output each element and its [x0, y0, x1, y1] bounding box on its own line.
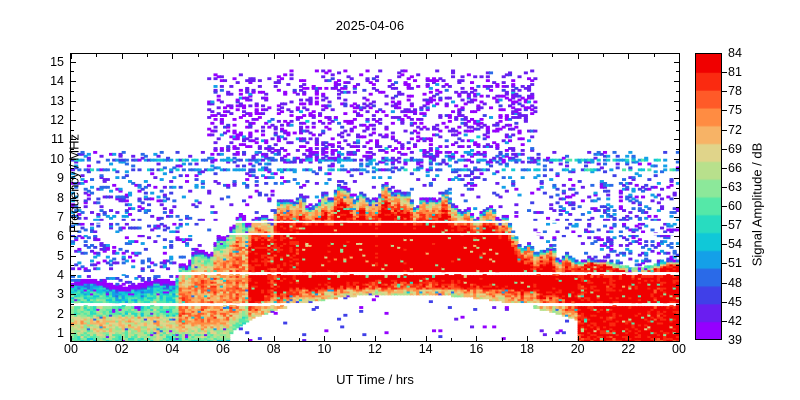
- y-tick-label: 3: [18, 288, 64, 301]
- x-tick-minor: [654, 54, 655, 57]
- x-tick-label: 22: [603, 343, 653, 356]
- colorbar-tick-mark: [722, 168, 727, 169]
- y-tick-mark: [71, 139, 76, 140]
- y-tick-mark: [71, 314, 76, 315]
- y-tick-mark: [71, 333, 76, 334]
- y-tick-mark: [674, 275, 679, 276]
- y-tick-mark: [71, 101, 76, 102]
- colorbar-tick-mark: [722, 263, 727, 264]
- y-tick-minor: [71, 110, 74, 111]
- y-tick-label: 13: [18, 94, 64, 107]
- colorbar-tick-mark: [722, 187, 727, 188]
- x-tick-minor: [147, 54, 148, 57]
- colorbar-tick-mark: [722, 283, 727, 284]
- y-tick-label: 9: [18, 172, 64, 185]
- x-tick-mark: [122, 54, 123, 59]
- x-tick-label: 06: [198, 343, 248, 356]
- y-tick-minor: [676, 110, 679, 111]
- x-tick-mark: [71, 336, 72, 341]
- y-tick-label: 15: [18, 56, 64, 69]
- y-tick-mark: [674, 62, 679, 63]
- x-tick-label: 10: [299, 343, 349, 356]
- x-tick-mark: [578, 54, 579, 59]
- y-tick-minor: [676, 324, 679, 325]
- x-tick-label: 08: [249, 343, 299, 356]
- y-tick-label: 6: [18, 230, 64, 243]
- x-tick-minor: [400, 54, 401, 57]
- y-tick-mark: [71, 62, 76, 63]
- x-tick-label: 14: [401, 343, 451, 356]
- x-tick-minor: [248, 338, 249, 341]
- x-tick-label: 04: [147, 343, 197, 356]
- y-tick-minor: [71, 149, 74, 150]
- x-tick-mark: [375, 336, 376, 341]
- y-tick-label: 1: [18, 327, 64, 340]
- x-tick-mark: [172, 54, 173, 59]
- colorbar-tick-mark: [722, 225, 727, 226]
- y-tick-label: 11: [18, 133, 64, 146]
- x-tick-minor: [451, 54, 452, 57]
- x-tick-mark: [426, 336, 427, 341]
- y-tick-minor: [676, 188, 679, 189]
- x-tick-label: 18: [502, 343, 552, 356]
- colorbar-canvas: [695, 53, 722, 340]
- y-tick-minor: [676, 130, 679, 131]
- x-tick-label: 00: [654, 343, 704, 356]
- y-tick-mark: [674, 333, 679, 334]
- y-tick-minor: [676, 149, 679, 150]
- x-tick-mark: [527, 336, 528, 341]
- y-tick-label: 2: [18, 308, 64, 321]
- spectrogram-plot-area[interactable]: Frequency / MHz UT Time / hrs 1234567891…: [70, 53, 680, 342]
- colorbar-tick-mark: [722, 130, 727, 131]
- x-axis-label: UT Time / hrs: [71, 372, 679, 387]
- y-tick-mark: [674, 198, 679, 199]
- x-tick-mark: [172, 336, 173, 341]
- y-tick-minor: [676, 168, 679, 169]
- x-tick-mark: [324, 336, 325, 341]
- y-tick-mark: [674, 178, 679, 179]
- x-tick-label: 12: [350, 343, 400, 356]
- colorbar-tick-mark: [722, 149, 727, 150]
- y-tick-mark: [674, 294, 679, 295]
- y-tick-label: 14: [18, 75, 64, 88]
- x-tick-minor: [96, 54, 97, 57]
- ionogram-figure: 2025-04-06 Frequency / MHz UT Time / hrs…: [0, 0, 800, 400]
- y-tick-label: 12: [18, 114, 64, 127]
- x-tick-minor: [299, 338, 300, 341]
- x-tick-mark: [679, 336, 680, 341]
- page-title: 2025-04-06: [0, 18, 740, 33]
- x-tick-label: 16: [451, 343, 501, 356]
- spectrogram-canvas[interactable]: [71, 54, 679, 341]
- x-tick-minor: [350, 54, 351, 57]
- y-tick-minor: [71, 168, 74, 169]
- x-tick-mark: [426, 54, 427, 59]
- y-tick-mark: [71, 294, 76, 295]
- y-tick-mark: [674, 236, 679, 237]
- y-tick-label: 4: [18, 269, 64, 282]
- y-tick-minor: [71, 285, 74, 286]
- y-tick-minor: [71, 207, 74, 208]
- y-tick-mark: [674, 81, 679, 82]
- y-tick-minor: [71, 71, 74, 72]
- x-tick-mark: [274, 54, 275, 59]
- x-tick-minor: [502, 54, 503, 57]
- colorbar-label: Signal Amplitude / dB: [750, 54, 765, 354]
- y-tick-mark: [674, 159, 679, 160]
- x-tick-minor: [654, 338, 655, 341]
- x-tick-mark: [223, 54, 224, 59]
- y-tick-label: 8: [18, 191, 64, 204]
- colorbar[interactable]: 39424548515457606366697275788184 Signal …: [695, 53, 722, 340]
- y-tick-mark: [71, 159, 76, 160]
- x-tick-minor: [400, 338, 401, 341]
- y-tick-minor: [676, 246, 679, 247]
- y-tick-label: 10: [18, 152, 64, 165]
- x-tick-mark: [122, 336, 123, 341]
- x-tick-label: 20: [553, 343, 603, 356]
- x-tick-mark: [679, 54, 680, 59]
- y-tick-label: 5: [18, 249, 64, 262]
- y-tick-minor: [676, 207, 679, 208]
- y-tick-minor: [676, 227, 679, 228]
- y-tick-mark: [71, 198, 76, 199]
- x-tick-mark: [223, 336, 224, 341]
- y-tick-minor: [71, 91, 74, 92]
- y-tick-minor: [71, 188, 74, 189]
- x-tick-minor: [502, 338, 503, 341]
- x-tick-minor: [603, 338, 604, 341]
- y-tick-minor: [71, 227, 74, 228]
- x-tick-minor: [451, 338, 452, 341]
- x-tick-minor: [147, 338, 148, 341]
- y-tick-mark: [71, 236, 76, 237]
- x-tick-mark: [527, 54, 528, 59]
- y-tick-minor: [71, 304, 74, 305]
- x-tick-minor: [96, 338, 97, 341]
- colorbar-tick-mark: [722, 206, 727, 207]
- y-axis-label: Frequency / MHz: [67, 14, 82, 354]
- y-tick-label: 7: [18, 211, 64, 224]
- y-tick-minor: [676, 71, 679, 72]
- x-tick-label: 00: [46, 343, 96, 356]
- y-tick-mark: [71, 81, 76, 82]
- x-tick-mark: [324, 54, 325, 59]
- x-tick-mark: [578, 336, 579, 341]
- x-tick-minor: [248, 54, 249, 57]
- y-tick-minor: [676, 265, 679, 266]
- y-tick-mark: [674, 314, 679, 315]
- x-tick-mark: [628, 54, 629, 59]
- y-tick-mark: [674, 101, 679, 102]
- y-tick-minor: [676, 285, 679, 286]
- y-tick-mark: [71, 256, 76, 257]
- y-tick-minor: [71, 324, 74, 325]
- x-tick-minor: [603, 54, 604, 57]
- x-tick-mark: [274, 336, 275, 341]
- y-tick-mark: [674, 120, 679, 121]
- x-tick-minor: [552, 338, 553, 341]
- y-tick-mark: [71, 178, 76, 179]
- y-tick-mark: [71, 275, 76, 276]
- x-tick-label: 02: [97, 343, 147, 356]
- y-tick-minor: [676, 304, 679, 305]
- y-tick-mark: [71, 217, 76, 218]
- y-tick-mark: [71, 120, 76, 121]
- x-tick-mark: [628, 336, 629, 341]
- y-tick-minor: [676, 91, 679, 92]
- x-tick-mark: [375, 54, 376, 59]
- x-tick-mark: [476, 336, 477, 341]
- x-tick-minor: [198, 338, 199, 341]
- colorbar-tick-mark: [722, 302, 727, 303]
- y-tick-mark: [674, 217, 679, 218]
- y-tick-mark: [674, 139, 679, 140]
- x-tick-mark: [71, 54, 72, 59]
- x-tick-minor: [198, 54, 199, 57]
- x-tick-mark: [476, 54, 477, 59]
- colorbar-tick-mark: [722, 110, 727, 111]
- y-tick-minor: [71, 246, 74, 247]
- y-tick-minor: [71, 265, 74, 266]
- colorbar-tick-mark: [722, 321, 727, 322]
- x-tick-minor: [552, 54, 553, 57]
- colorbar-tick-mark: [722, 72, 727, 73]
- colorbar-tick-mark: [722, 91, 727, 92]
- x-tick-minor: [350, 338, 351, 341]
- colorbar-tick-mark: [722, 244, 727, 245]
- y-tick-minor: [71, 130, 74, 131]
- x-tick-minor: [299, 54, 300, 57]
- y-tick-mark: [674, 256, 679, 257]
